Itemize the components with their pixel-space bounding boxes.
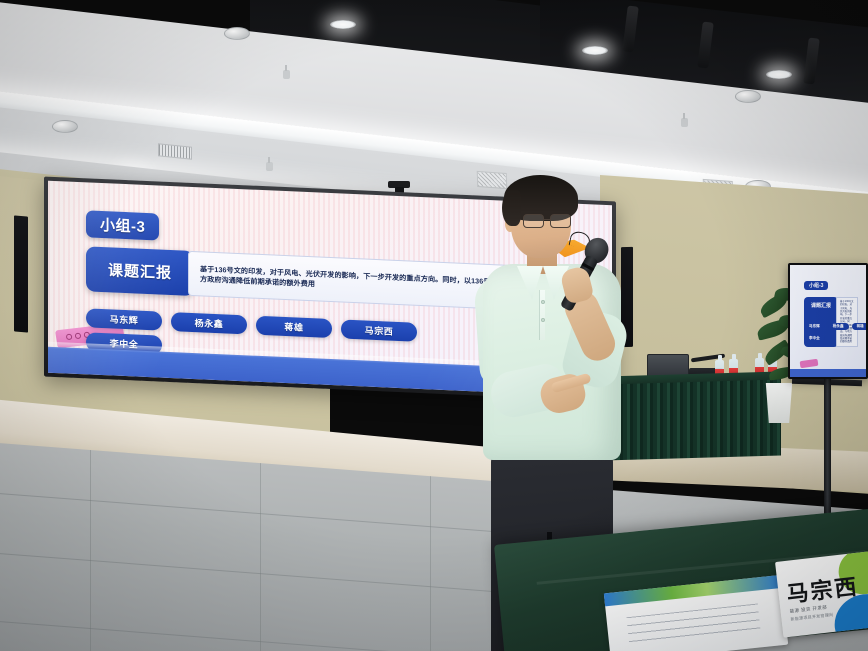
sprinkler-head	[681, 118, 688, 127]
nameplate: 马宗西 能源 投资 开发部 新能源项目开发管理岗	[775, 550, 868, 637]
glasses-icon	[523, 214, 575, 228]
ceiling-downlight	[766, 70, 792, 79]
monitor-member-pill: 马东辉	[804, 323, 825, 330]
ceiling-speaker	[224, 27, 250, 40]
conference-room-photo: 小组-3 课题汇报 基于136号文的印发，对于风电、光伏开发的影响，下一步开发的…	[0, 0, 868, 651]
monitor-bottom-band	[790, 369, 866, 377]
monitor-member-pill: 蒋雄	[852, 323, 866, 330]
monitor-pink-decoration	[800, 359, 819, 368]
wall-black-panel-left	[14, 215, 28, 332]
monitor-member-pill: 杨永鑫	[828, 323, 849, 330]
member-pill: 马东辉	[86, 308, 162, 330]
monitor-member-row-1: 马东辉 杨永鑫 蒋雄	[804, 323, 862, 330]
ceiling-downlight	[330, 20, 356, 29]
ceiling-speaker	[52, 120, 78, 133]
monitor-group-chip: 小组-3	[804, 281, 828, 290]
ceiling-downlight	[582, 46, 608, 55]
presenter-hair-side	[502, 190, 521, 226]
side-monitor[interactable]: 小组-3 课题汇报 基于136号文的印发，对于风电、光伏开发的影响，下一步开发的…	[788, 263, 868, 379]
shirt-button	[541, 300, 545, 304]
monitor-member-row-2: 李中全	[804, 335, 862, 342]
member-pill: 马宗西	[341, 319, 417, 341]
slide-group-chip: 小组-3	[86, 210, 159, 240]
slide-report-label: 课题汇报	[86, 246, 194, 296]
booklet-ruled-lines	[626, 603, 760, 643]
shirt-button	[541, 318, 545, 322]
sprinkler-head	[283, 70, 290, 79]
shirt-placket	[539, 290, 545, 340]
sprinkler-head	[266, 162, 273, 171]
plant-pot	[764, 383, 794, 423]
monitor-screen: 小组-3 课题汇报 基于136号文的印发，对于风电、光伏开发的影响，下一步开发的…	[790, 265, 866, 377]
member-pill: 蒋雄	[256, 316, 332, 338]
member-pill: 杨永鑫	[171, 312, 247, 334]
ceiling-speaker	[735, 90, 761, 103]
monitor-member-pill: 李中全	[804, 335, 825, 342]
ceiling-camera-icon	[388, 181, 410, 188]
